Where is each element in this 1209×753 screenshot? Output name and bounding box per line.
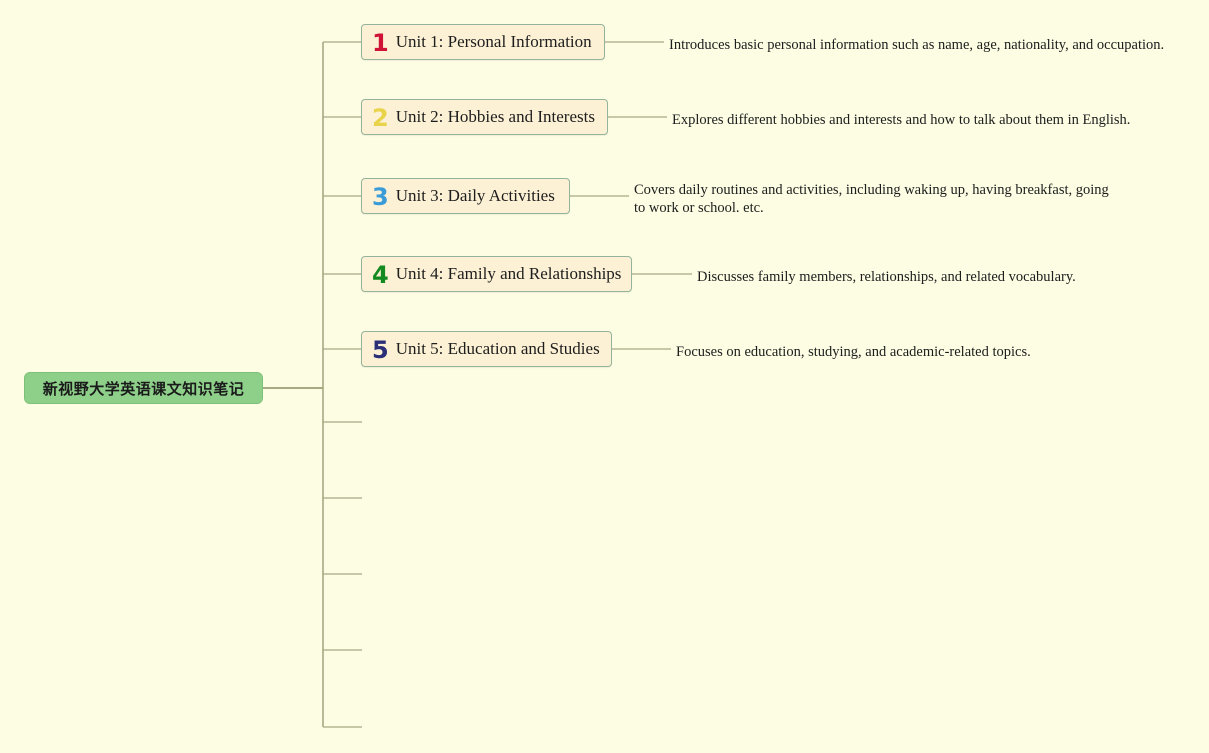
unit-title-3: Unit 3: Daily Activities <box>396 186 555 206</box>
unit-description-3: Covers daily routines and activities, in… <box>634 181 1118 217</box>
unit-description-2: Explores different hobbies and interests… <box>672 111 1152 129</box>
unit-number-5: 5 <box>372 338 389 362</box>
unit-description-4: Discusses family members, relationships,… <box>697 268 1097 286</box>
unit-title-2: Unit 2: Hobbies and Interests <box>396 107 595 127</box>
unit-node-1[interactable]: 1 Unit 1: Personal Information <box>361 24 605 60</box>
unit-number-1: 1 <box>372 31 389 55</box>
unit-node-2[interactable]: 2 Unit 2: Hobbies and Interests <box>361 99 608 135</box>
unit-description-1: Introduces basic personal information su… <box>669 36 1169 54</box>
unit-number-4: 4 <box>372 263 389 287</box>
unit-node-5[interactable]: 5 Unit 5: Education and Studies <box>361 331 612 367</box>
unit-title-4: Unit 4: Family and Relationships <box>396 264 622 284</box>
unit-node-3[interactable]: 3 Unit 3: Daily Activities <box>361 178 570 214</box>
unit-description-5: Focuses on education, studying, and acad… <box>676 343 1056 361</box>
root-node-label: 新视野大学英语课文知识笔记 <box>43 378 245 399</box>
mindmap-canvas: 新视野大学英语课文知识笔记 1 Unit 1: Personal Informa… <box>0 0 1209 753</box>
unit-number-3: 3 <box>372 185 389 209</box>
unit-node-4[interactable]: 4 Unit 4: Family and Relationships <box>361 256 632 292</box>
root-node[interactable]: 新视野大学英语课文知识笔记 <box>24 372 263 404</box>
unit-title-1: Unit 1: Personal Information <box>396 32 592 52</box>
unit-number-2: 2 <box>372 106 389 130</box>
unit-title-5: Unit 5: Education and Studies <box>396 339 600 359</box>
